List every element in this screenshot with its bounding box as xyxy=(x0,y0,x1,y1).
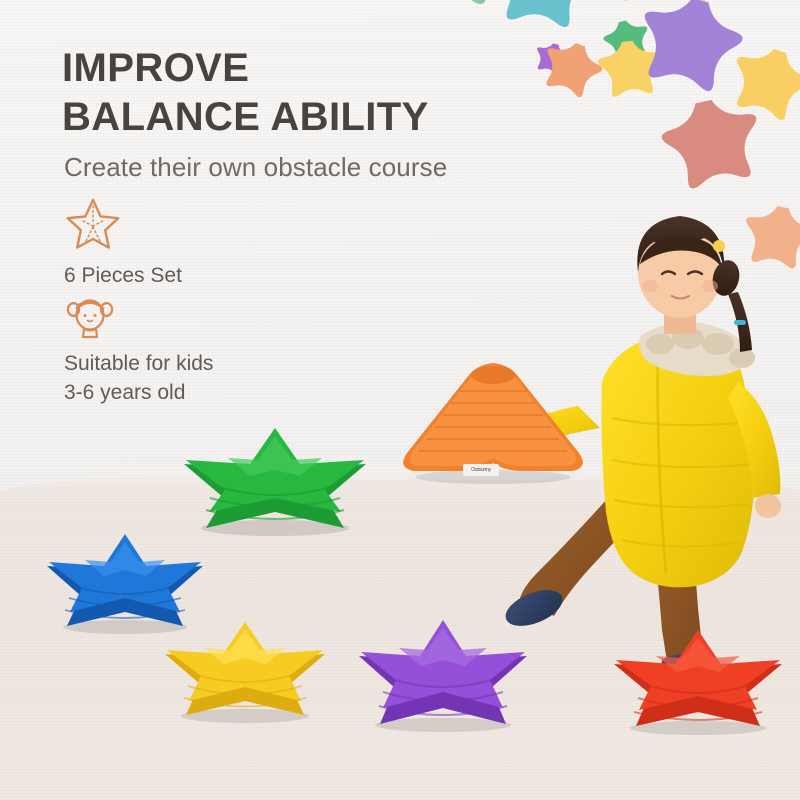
product-photo: Outsunny xyxy=(0,0,800,800)
yellow-stepping-stone xyxy=(150,618,340,724)
green-stepping-stone xyxy=(168,424,383,536)
red-stepping-stone xyxy=(598,626,798,736)
purple-stepping-stone xyxy=(343,616,543,734)
product-marketing-poster: IMPROVE BALANCE ABILITY Create their own… xyxy=(0,0,800,800)
brand-label: Outsunny xyxy=(463,464,499,476)
